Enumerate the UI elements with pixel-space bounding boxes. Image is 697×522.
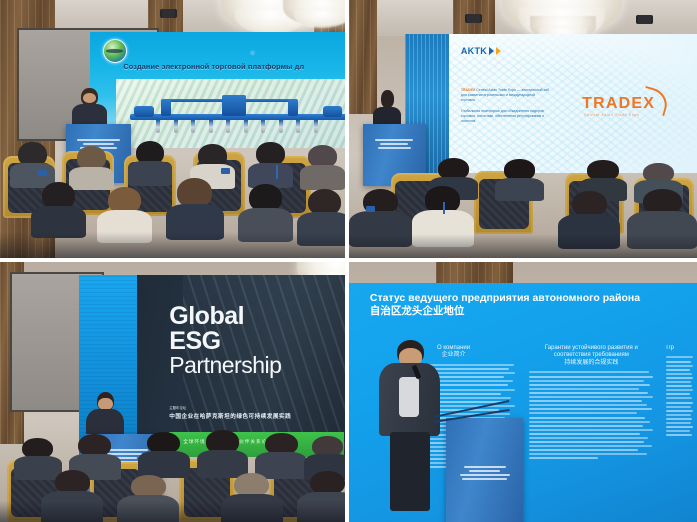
slide-body-text: TRADEX Central Asian Trade Expo — электр… <box>461 88 550 124</box>
podium-nameplate <box>456 464 514 482</box>
slide-body-paragraph-2: Глобальная платформа для объединения лид… <box>461 109 550 124</box>
slide-title: Создание электронной торговой платформы … <box>123 62 304 71</box>
slide-body-paragraph-1: Central Asian Trade Expo — электронный х… <box>461 88 549 102</box>
audience-area <box>0 139 345 258</box>
column-heading-ru: Гарантии устойчивого развития и соответс… <box>545 345 638 359</box>
column-heading-cn: 持续发展的合规实践 <box>529 360 655 368</box>
slide-subtitle: 中国企业在哈萨克斯坦的绿色可持续发展实践 <box>169 412 291 420</box>
slide-column: Гарантии устойчивого развития и соответс… <box>529 345 655 512</box>
ceiling-speaker-icon <box>467 14 480 23</box>
column-heading-ru: Пр <box>666 345 674 351</box>
ceiling-speaker-icon <box>638 15 651 24</box>
photo-bottom-right[interactable]: Статус ведущего предприятия автономного … <box>349 262 697 522</box>
tradex-tagline: Central Asian Trade Expo <box>584 113 639 117</box>
slide-title-line-3: Partnership <box>169 354 281 377</box>
slide-photo <box>116 79 345 149</box>
slide-title: Global ESG Partnership <box>169 304 281 377</box>
photo-bottom-left[interactable]: Global ESG Partnership 主题年论坛 中国企业在哈萨克斯坦的… <box>0 262 345 522</box>
speaker-podium <box>446 418 523 522</box>
aktk-logo-text: AKTK <box>461 46 487 56</box>
slide-title-ru: Статус ведущего предприятия автономного … <box>370 292 690 304</box>
column-body-text <box>529 371 655 459</box>
audience-area <box>0 428 345 522</box>
ceiling-speaker-icon <box>162 9 175 18</box>
photo-collage: Создание электронной торговой платформы … <box>0 0 697 522</box>
aktk-logo: AKTK <box>461 46 501 56</box>
speaker-person <box>377 340 443 506</box>
slide-title-cn: 自治区龙头企业地位 <box>370 305 690 317</box>
chevron-right-icon <box>489 47 494 55</box>
agricultural-machine-image <box>130 92 345 139</box>
tradex-logo: TRADEX Central Asian Trade Expo <box>582 95 655 117</box>
column-body-text <box>666 356 693 436</box>
slide-title: Статус ведущего предприятия автономного … <box>370 292 690 317</box>
audience-area <box>349 150 697 258</box>
slide-title-line-2: ESG <box>169 329 281 354</box>
speaker-person <box>72 88 107 129</box>
slide-column: Пр <box>666 345 693 512</box>
chevron-right-icon <box>496 47 501 55</box>
slide-title-line-1: Global <box>169 304 281 329</box>
slide-subtitle-small: 主题年论坛 <box>169 405 186 410</box>
globe-eagle-logo <box>103 39 127 63</box>
photo-top-left[interactable]: Создание электронной торговой платформы … <box>0 0 345 258</box>
slide-body-lead: TRADEX <box>461 88 475 92</box>
photo-top-right[interactable]: AKTK TRADEX Central Asian Trade Expo — э… <box>349 0 697 258</box>
